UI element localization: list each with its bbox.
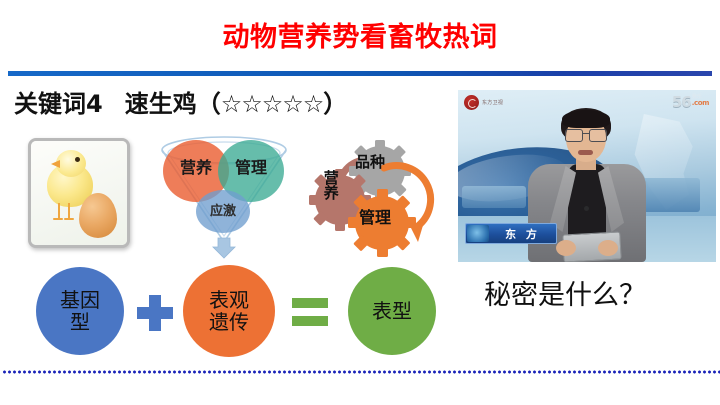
station-logo-text: 东方卫视 xyxy=(482,99,503,106)
tv-station-logo: 东方卫视 xyxy=(464,95,503,110)
keyword-heading: 关键词4速生鸡（☆☆☆☆☆） xyxy=(14,90,347,119)
anchor-glasses-icon xyxy=(565,129,607,140)
chick-eye xyxy=(75,157,80,162)
page-title: 动物营养势看畜牧热词 xyxy=(0,22,720,53)
equals-bar-top xyxy=(292,298,328,308)
anchor-hand xyxy=(598,240,618,256)
rating-stars: ☆☆☆☆☆ xyxy=(221,90,324,118)
rating-close-paren: ） xyxy=(323,90,347,118)
watermark-suffix: 我乐 .com xyxy=(692,95,709,107)
equals-bar-bottom xyxy=(292,316,328,326)
watermark-domain-text: .com xyxy=(692,100,709,107)
slide-canvas: 动物营养势看畜牧热词 关键词4速生鸡（☆☆☆☆☆） 营养 管理 xyxy=(0,0,720,405)
equation-phenotype-circle: 表型 xyxy=(348,267,436,355)
equation-epigenetics-label: 表观遗传 xyxy=(209,289,249,334)
tv-watermark: 56 我乐 .com xyxy=(672,95,709,110)
equation-genotype-label: 基因型 xyxy=(60,289,100,334)
glasses-lens xyxy=(565,129,583,142)
tv-set-panel xyxy=(462,186,526,208)
chick-foot xyxy=(53,218,63,220)
tv-lower-third-banner: 东 方 xyxy=(465,223,557,244)
funnel-bubble-label: 应激 xyxy=(210,200,236,219)
glasses-lens xyxy=(589,129,607,142)
equation-plus-operator xyxy=(137,295,173,331)
plus-bar-vertical xyxy=(149,295,161,331)
gears-diagram: 品种 营养 管理 xyxy=(306,138,438,260)
title-divider xyxy=(8,71,712,76)
egg-shape xyxy=(79,193,117,238)
chick-foot xyxy=(64,218,74,220)
chick-leg xyxy=(58,203,60,219)
banner-label: 东 方 xyxy=(489,226,556,242)
tv-screenshot: 东方卫视 56 我乐 .com 东 方 xyxy=(458,90,716,262)
funnel-bubble-label: 管理 xyxy=(235,154,267,178)
funnel-diagram: 营养 管理 应激 xyxy=(152,134,302,259)
anchor-lapel-mic-icon xyxy=(584,206,589,211)
question-text: 秘密是什么？ xyxy=(484,280,646,312)
keyword-term: 速生鸡 xyxy=(125,90,197,118)
gear-label-nutrition: 营养 xyxy=(322,170,338,200)
anchor-hand xyxy=(556,240,576,256)
anchor-mouth xyxy=(578,150,593,155)
chick-leg xyxy=(68,203,70,219)
chick-photo xyxy=(28,138,130,248)
keyword-index: 关键词4 xyxy=(14,90,103,118)
funnel-bubble-label: 营养 xyxy=(180,154,212,178)
funnel-bubble-stress: 应激 xyxy=(196,190,250,233)
equation-epigenetics-circle: 表观遗传 xyxy=(183,265,275,357)
anchor-hair-front xyxy=(562,110,610,128)
station-badge-icon xyxy=(464,95,479,110)
gear-label-breed: 品种 xyxy=(355,155,385,170)
rating-open-paren: （ xyxy=(197,90,221,118)
banner-globe-icon xyxy=(467,225,489,242)
bottom-dotted-divider xyxy=(2,370,720,374)
equation-genotype-circle: 基因型 xyxy=(36,267,124,355)
chick-beak-icon xyxy=(51,160,60,168)
equation-equals-operator xyxy=(292,298,328,326)
equation-phenotype-label: 表型 xyxy=(372,300,412,322)
chick-head xyxy=(56,150,86,177)
gear-label-management: 管理 xyxy=(359,210,391,226)
watermark-number: 56 xyxy=(672,95,691,110)
